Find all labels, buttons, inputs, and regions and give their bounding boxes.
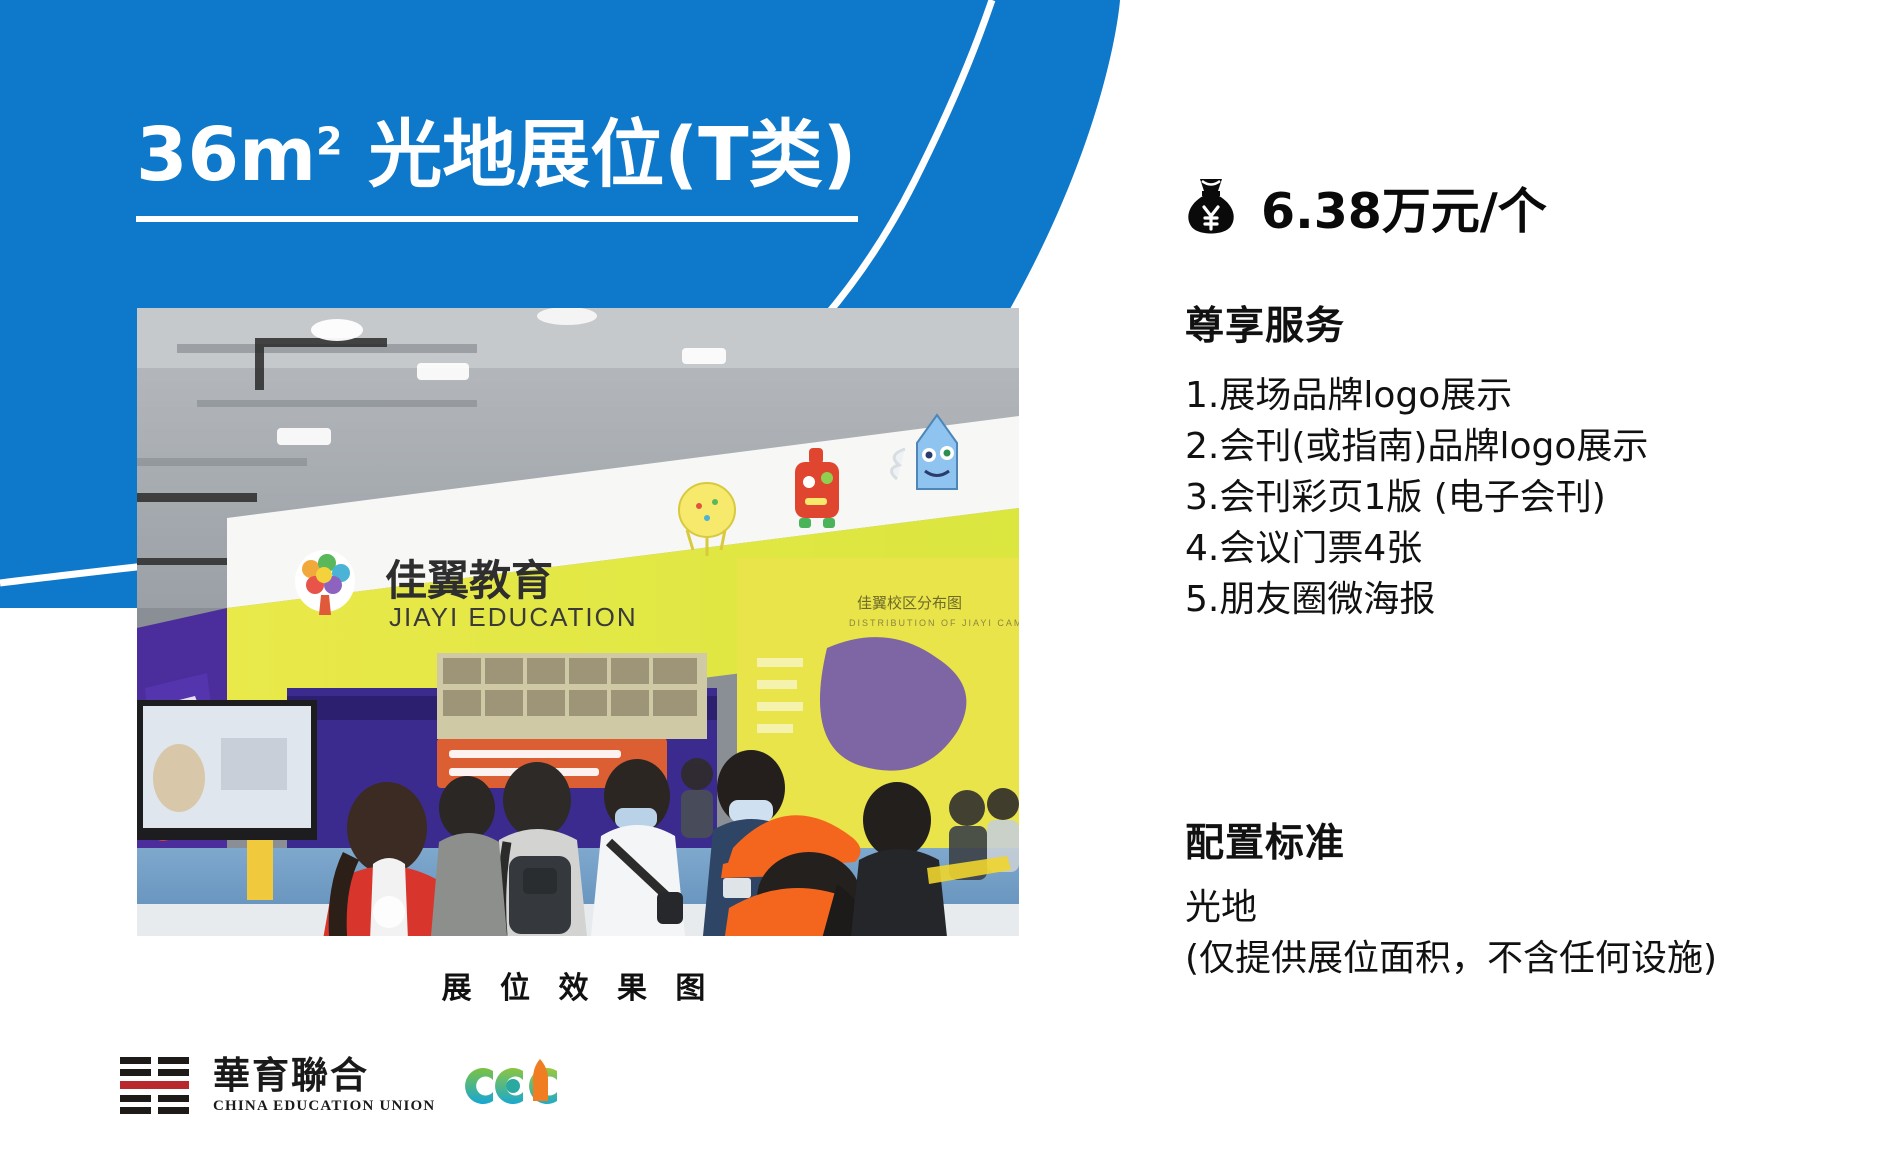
page-title: 36m2 光地展位(T类): [136, 118, 856, 192]
title-underline: [136, 216, 858, 222]
svg-text:佳翼教育: 佳翼教育: [385, 556, 553, 605]
title-superscript: 2: [316, 119, 342, 163]
services-list: 1.展场品牌logo展示 2.会刊(或指南)品牌logo展示 3.会刊彩页1版 …: [1185, 370, 1648, 626]
price-value: 6.38万元/个: [1261, 172, 1547, 243]
config-line-1: 光地: [1185, 882, 1717, 933]
footer-logos: 華育聯合 CHINA EDUCATION UNION: [120, 1055, 560, 1117]
service-item-3: 3.会刊彩页1版 (电子会刊): [1185, 472, 1648, 523]
services-heading: 尊享服务: [1185, 295, 1345, 351]
service-item-4: 4.会议门票4张: [1185, 523, 1648, 574]
service-item-1: 1.展场品牌logo展示: [1185, 370, 1648, 421]
title-rest: 光地展位(T类): [343, 112, 857, 198]
title-unit: m: [239, 112, 316, 198]
photo-caption: 展 位 效 果 图: [137, 963, 1019, 1007]
info-column: 6.38万元/个 尊享服务 1.展场品牌logo展示 2.会刊(或指南)品牌lo…: [1183, 0, 1883, 1169]
svg-text:佳翼校区分布图: 佳翼校区分布图: [857, 594, 962, 612]
service-item-5: 5.朋友圈微海报: [1185, 574, 1648, 625]
org-name-cn: 華育聯合: [213, 1057, 435, 1096]
org-name-block: 華育聯合 CHINA EDUCATION UNION: [213, 1057, 435, 1116]
config-lines: 光地 (仅提供展位面积，不含任何设施): [1185, 882, 1717, 984]
cec-logo-icon: [465, 1057, 560, 1115]
config-line-2: (仅提供展位面积，不含任何设施): [1185, 933, 1717, 984]
svg-text:DISTRIBUTION OF JIAYI CAMPUS: DISTRIBUTION OF JIAYI CAMPUS: [849, 618, 1019, 628]
org-name-en: CHINA EDUCATION UNION: [213, 1098, 435, 1115]
union-bars-icon: [120, 1055, 195, 1117]
money-bag-icon: [1183, 177, 1239, 239]
slide-root: 36m2 光地展位(T类): [0, 0, 1899, 1169]
svg-text:JIAYI EDUCATION: JIAYI EDUCATION: [389, 602, 638, 632]
service-item-2: 2.会刊(或指南)品牌logo展示: [1185, 421, 1648, 472]
price-row: 6.38万元/个: [1183, 172, 1547, 243]
booth-photo: 佳翼教育 JIAYI EDUCATION: [137, 308, 1019, 936]
config-heading: 配置标准: [1185, 812, 1345, 868]
title-number: 36: [136, 112, 239, 198]
